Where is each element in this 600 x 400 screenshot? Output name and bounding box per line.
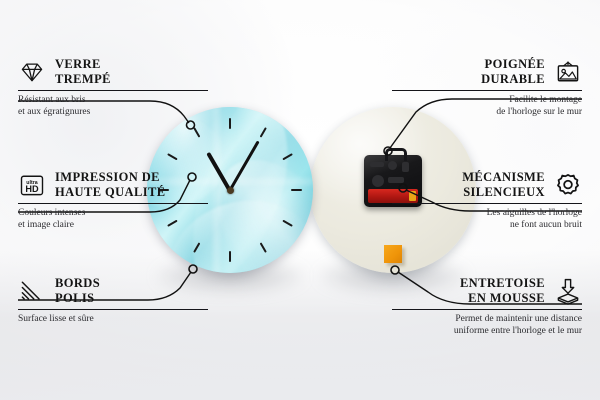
glass-reflection-vertical [213,107,220,273]
feature-mecanisme-silencieux: MÉCANISMESILENCIEUX Les aiguilles de l'h… [392,170,582,231]
feature-description: Facilite le montagede l'horloge sur le m… [392,95,582,118]
foam-spacer-sample [384,245,402,263]
wall-hanger-icon [554,58,582,86]
feature-description: Couleurs intenseset image claire [18,208,208,231]
foam-spacer-icon [554,277,582,305]
feature-header: VERRETREMPÉ [18,57,208,86]
feature-divider [18,203,208,204]
feature-description: Permet de maintenir une distanceuniforme… [392,314,582,337]
ultra-hd-icon: ultra HD [18,171,46,199]
feature-bords-polis: BORDSPOLIS Surface lisse et sûre [18,276,208,326]
feature-title: POIGNÉEDURABLE [481,57,545,86]
feature-description: Les aiguilles de l'horlogene font aucun … [392,208,582,231]
feature-header: POIGNÉEDURABLE [392,57,582,86]
gear-icon [554,171,582,199]
feature-entretoise-en-mousse: ENTRETOISEEN MOUSSE Permet de maintenir … [392,276,582,337]
feature-poignee-durable: POIGNÉEDURABLE Facilite le montagede l'h… [392,57,582,118]
feature-description: Surface lisse et sûre [18,314,208,326]
clock-center-cap [227,187,234,194]
feature-divider [392,203,582,204]
svg-text:HD: HD [25,184,39,194]
feature-header: ENTRETOISEEN MOUSSE [392,276,582,305]
feature-title: ENTRETOISEEN MOUSSE [460,276,545,305]
feature-divider [392,90,582,91]
diamond-icon [18,58,46,86]
feature-title: BORDSPOLIS [55,276,100,305]
polished-edges-icon [18,277,46,305]
feature-divider [18,90,208,91]
feature-divider [18,309,208,310]
feature-divider [392,309,582,310]
feature-title: MÉCANISMESILENCIEUX [462,170,545,199]
feature-verre-trempe: VERRETREMPÉ Résistant aux briset aux égr… [18,57,208,118]
feature-title: IMPRESSION DEHAUTE QUALITÉ [55,170,165,199]
feature-header: BORDSPOLIS [18,276,208,305]
feature-title: VERRETREMPÉ [55,57,111,86]
feature-impression-haute-qualite: ultra HD IMPRESSION DEHAUTE QUALITÉ Coul… [18,170,208,231]
mechanism-hanger-tab [385,148,407,161]
feature-header: MÉCANISMESILENCIEUX [392,170,582,199]
feature-description: Résistant aux briset aux égratignures [18,95,208,118]
feature-header: ultra HD IMPRESSION DEHAUTE QUALITÉ [18,170,208,199]
infographic-canvas: VERRETREMPÉ Résistant aux briset aux égr… [0,0,600,400]
